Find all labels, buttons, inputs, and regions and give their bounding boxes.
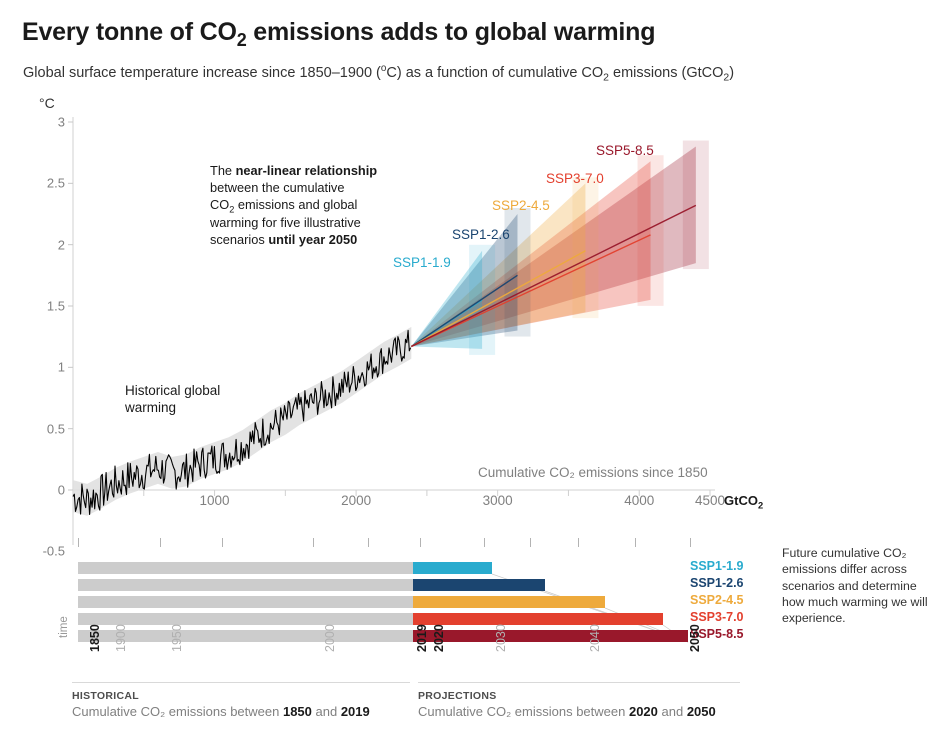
ann-l1a: The	[210, 163, 236, 178]
timeline-legend-ssp1-1.9: SSP1-1.9	[690, 559, 744, 573]
projection-bar-ssp1-2.6	[413, 579, 545, 591]
timeline-minor-tick	[78, 538, 79, 547]
fh-b: 1850	[283, 704, 312, 719]
time-axis-label: time	[58, 616, 70, 638]
projection-bar-ssp3-7.0	[413, 613, 663, 625]
x-unit-text: GtCO	[724, 493, 758, 508]
ann-l4: warming for five illustrative	[210, 215, 361, 230]
x-tick-4500: 4500	[695, 493, 725, 508]
title-text-pre: Every tonne of CO	[22, 18, 237, 46]
historical-bar-ssp3-7.0	[78, 613, 413, 625]
ann-l5b: until year 2050	[268, 232, 357, 247]
near-linear-annotation: The near-linear relationship between the…	[210, 163, 396, 249]
timeline-minor-tick	[313, 538, 314, 547]
scenario-label-ssp5-8.5: SSP5-8.5	[596, 143, 654, 158]
timeline-legend-ssp2-4.5: SSP2-4.5	[690, 593, 744, 607]
timeline-minor-tick	[690, 538, 691, 547]
x-tick-2000: 2000	[341, 493, 371, 508]
footer-historical-heading: HISTORICAL	[72, 690, 139, 702]
page-subtitle: Global surface temperature increase sinc…	[23, 63, 734, 84]
year-label-2020: 2020	[432, 624, 446, 652]
historical-bar-ssp1-2.6	[78, 579, 413, 591]
fh-a: Cumulative CO₂ emissions between	[72, 704, 283, 719]
x-unit-subscript: 2	[758, 501, 763, 511]
projection-bar-ssp5-8.5	[413, 630, 688, 642]
subtitle-part-a: Global surface temperature increase sinc…	[23, 65, 381, 81]
scenario-label-ssp1-1.9: SSP1-1.9	[393, 255, 451, 270]
timeline-minor-tick	[420, 538, 421, 547]
scenario-label-ssp3-7.0: SSP3-7.0	[546, 171, 604, 186]
x-axis-unit: GtCO2	[724, 493, 763, 511]
y-tick-0: 0	[31, 483, 65, 498]
page-title: Every tonne of CO2 emissions adds to glo…	[22, 18, 655, 51]
year-label-1950: 1950	[170, 624, 184, 652]
year-label-2000: 2000	[323, 624, 337, 652]
subtitle-part-d: )	[729, 65, 734, 81]
ann-l1b: near-linear relationship	[236, 163, 378, 178]
year-label-1850: 1850	[88, 624, 102, 652]
projection-bar-ssp2-4.5	[413, 596, 605, 608]
subtitle-part-c: emissions (GtCO	[609, 65, 723, 81]
year-label-2050: 2050	[688, 624, 702, 652]
temperature-emissions-chart: °C 32.521.510.50-0.5 1000200030004000450…	[0, 95, 929, 545]
historical-bar-ssp5-8.5	[78, 630, 413, 642]
footer-divider-historical	[72, 682, 410, 683]
timeline-minor-tick	[530, 538, 531, 547]
x-tick-3000: 3000	[483, 493, 513, 508]
scenario-label-ssp2-4.5: SSP2-4.5	[492, 198, 550, 213]
year-label-2040: 2040	[588, 624, 602, 652]
timeline-minor-tick	[484, 538, 485, 547]
fp-c: and	[658, 704, 687, 719]
ann-l2: between the cumulative	[210, 180, 344, 195]
timeline-legend-ssp1-2.6: SSP1-2.6	[690, 576, 744, 590]
fp-d: 2050	[687, 704, 716, 719]
x-tick-4000: 4000	[624, 493, 654, 508]
y-tick-1neg5: 1.5	[31, 299, 65, 314]
scenario-label-ssp1-2.6: SSP1-2.6	[452, 227, 510, 242]
ann-l3b: emissions and global	[234, 197, 357, 212]
chart-canvas	[0, 95, 929, 545]
historical-warming-label: Historical globalwarming	[125, 382, 220, 417]
ann-l5a: scenarios	[210, 232, 268, 247]
title-subscript: 2	[237, 30, 247, 50]
ann-l3a: CO	[210, 197, 229, 212]
year-label-2019: 2019	[415, 624, 429, 652]
footer-divider-projections	[418, 682, 740, 683]
title-text-post: emissions adds to global warming	[247, 18, 656, 46]
fp-b: 2020	[629, 704, 658, 719]
timeline-minor-tick	[368, 538, 369, 547]
historical-bar-ssp2-4.5	[78, 596, 413, 608]
y-tick-3: 3	[31, 115, 65, 130]
timeline-minor-tick	[222, 538, 223, 547]
fp-a: Cumulative CO₂ emissions between	[418, 704, 629, 719]
year-label-1900: 1900	[114, 624, 128, 652]
cumulative-emissions-note: Cumulative CO₂ emissions since 1850	[478, 465, 708, 480]
fh-d: 2019	[341, 704, 370, 719]
y-tick-2: 2	[31, 237, 65, 252]
timeline-minor-tick	[578, 538, 579, 547]
y-tick-1: 1	[31, 360, 65, 375]
fh-c: and	[312, 704, 341, 719]
timeline-minor-tick	[160, 538, 161, 547]
x-tick-1000: 1000	[200, 493, 230, 508]
footer-projections-text: Cumulative CO₂ emissions between 2020 an…	[418, 704, 716, 719]
historical-bar-ssp1-1.9	[78, 562, 413, 574]
future-emissions-note: Future cumulative CO₂ emissions differ a…	[782, 545, 929, 627]
year-label-2030: 2030	[494, 624, 508, 652]
footer-historical-text: Cumulative CO₂ emissions between 1850 an…	[72, 704, 370, 719]
timeline-minor-tick	[635, 538, 636, 547]
projection-bar-ssp1-1.9	[413, 562, 492, 574]
y-tick-2neg5: 2.5	[31, 176, 65, 191]
y-tick-0neg5: 0.5	[31, 421, 65, 436]
subtitle-part-b: C) as a function of cumulative CO	[386, 65, 603, 81]
timeline-legend-ssp3-7.0: SSP3-7.0	[690, 610, 744, 624]
footer-projections-heading: PROJECTIONS	[418, 690, 497, 702]
